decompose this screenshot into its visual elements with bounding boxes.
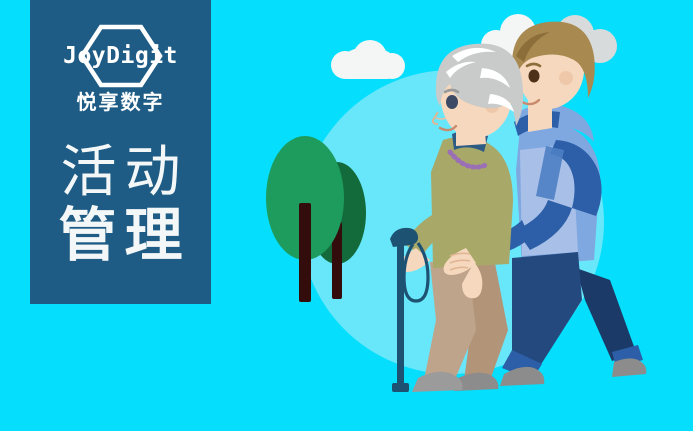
title-line-1: 活动: [30, 141, 211, 204]
title-line-2: 管理: [30, 204, 211, 269]
poster-canvas: JoyDigit 悦享数字 活动 管理: [0, 0, 693, 431]
logo-lockup: JoyDigit: [41, 22, 201, 90]
logo-wordmark: JoyDigit: [41, 36, 201, 76]
brand-subtitle: 悦享数字: [77, 86, 165, 115]
page-title: 活动 管理: [30, 141, 211, 269]
brand-panel: JoyDigit 悦享数字 活动 管理: [30, 0, 211, 304]
